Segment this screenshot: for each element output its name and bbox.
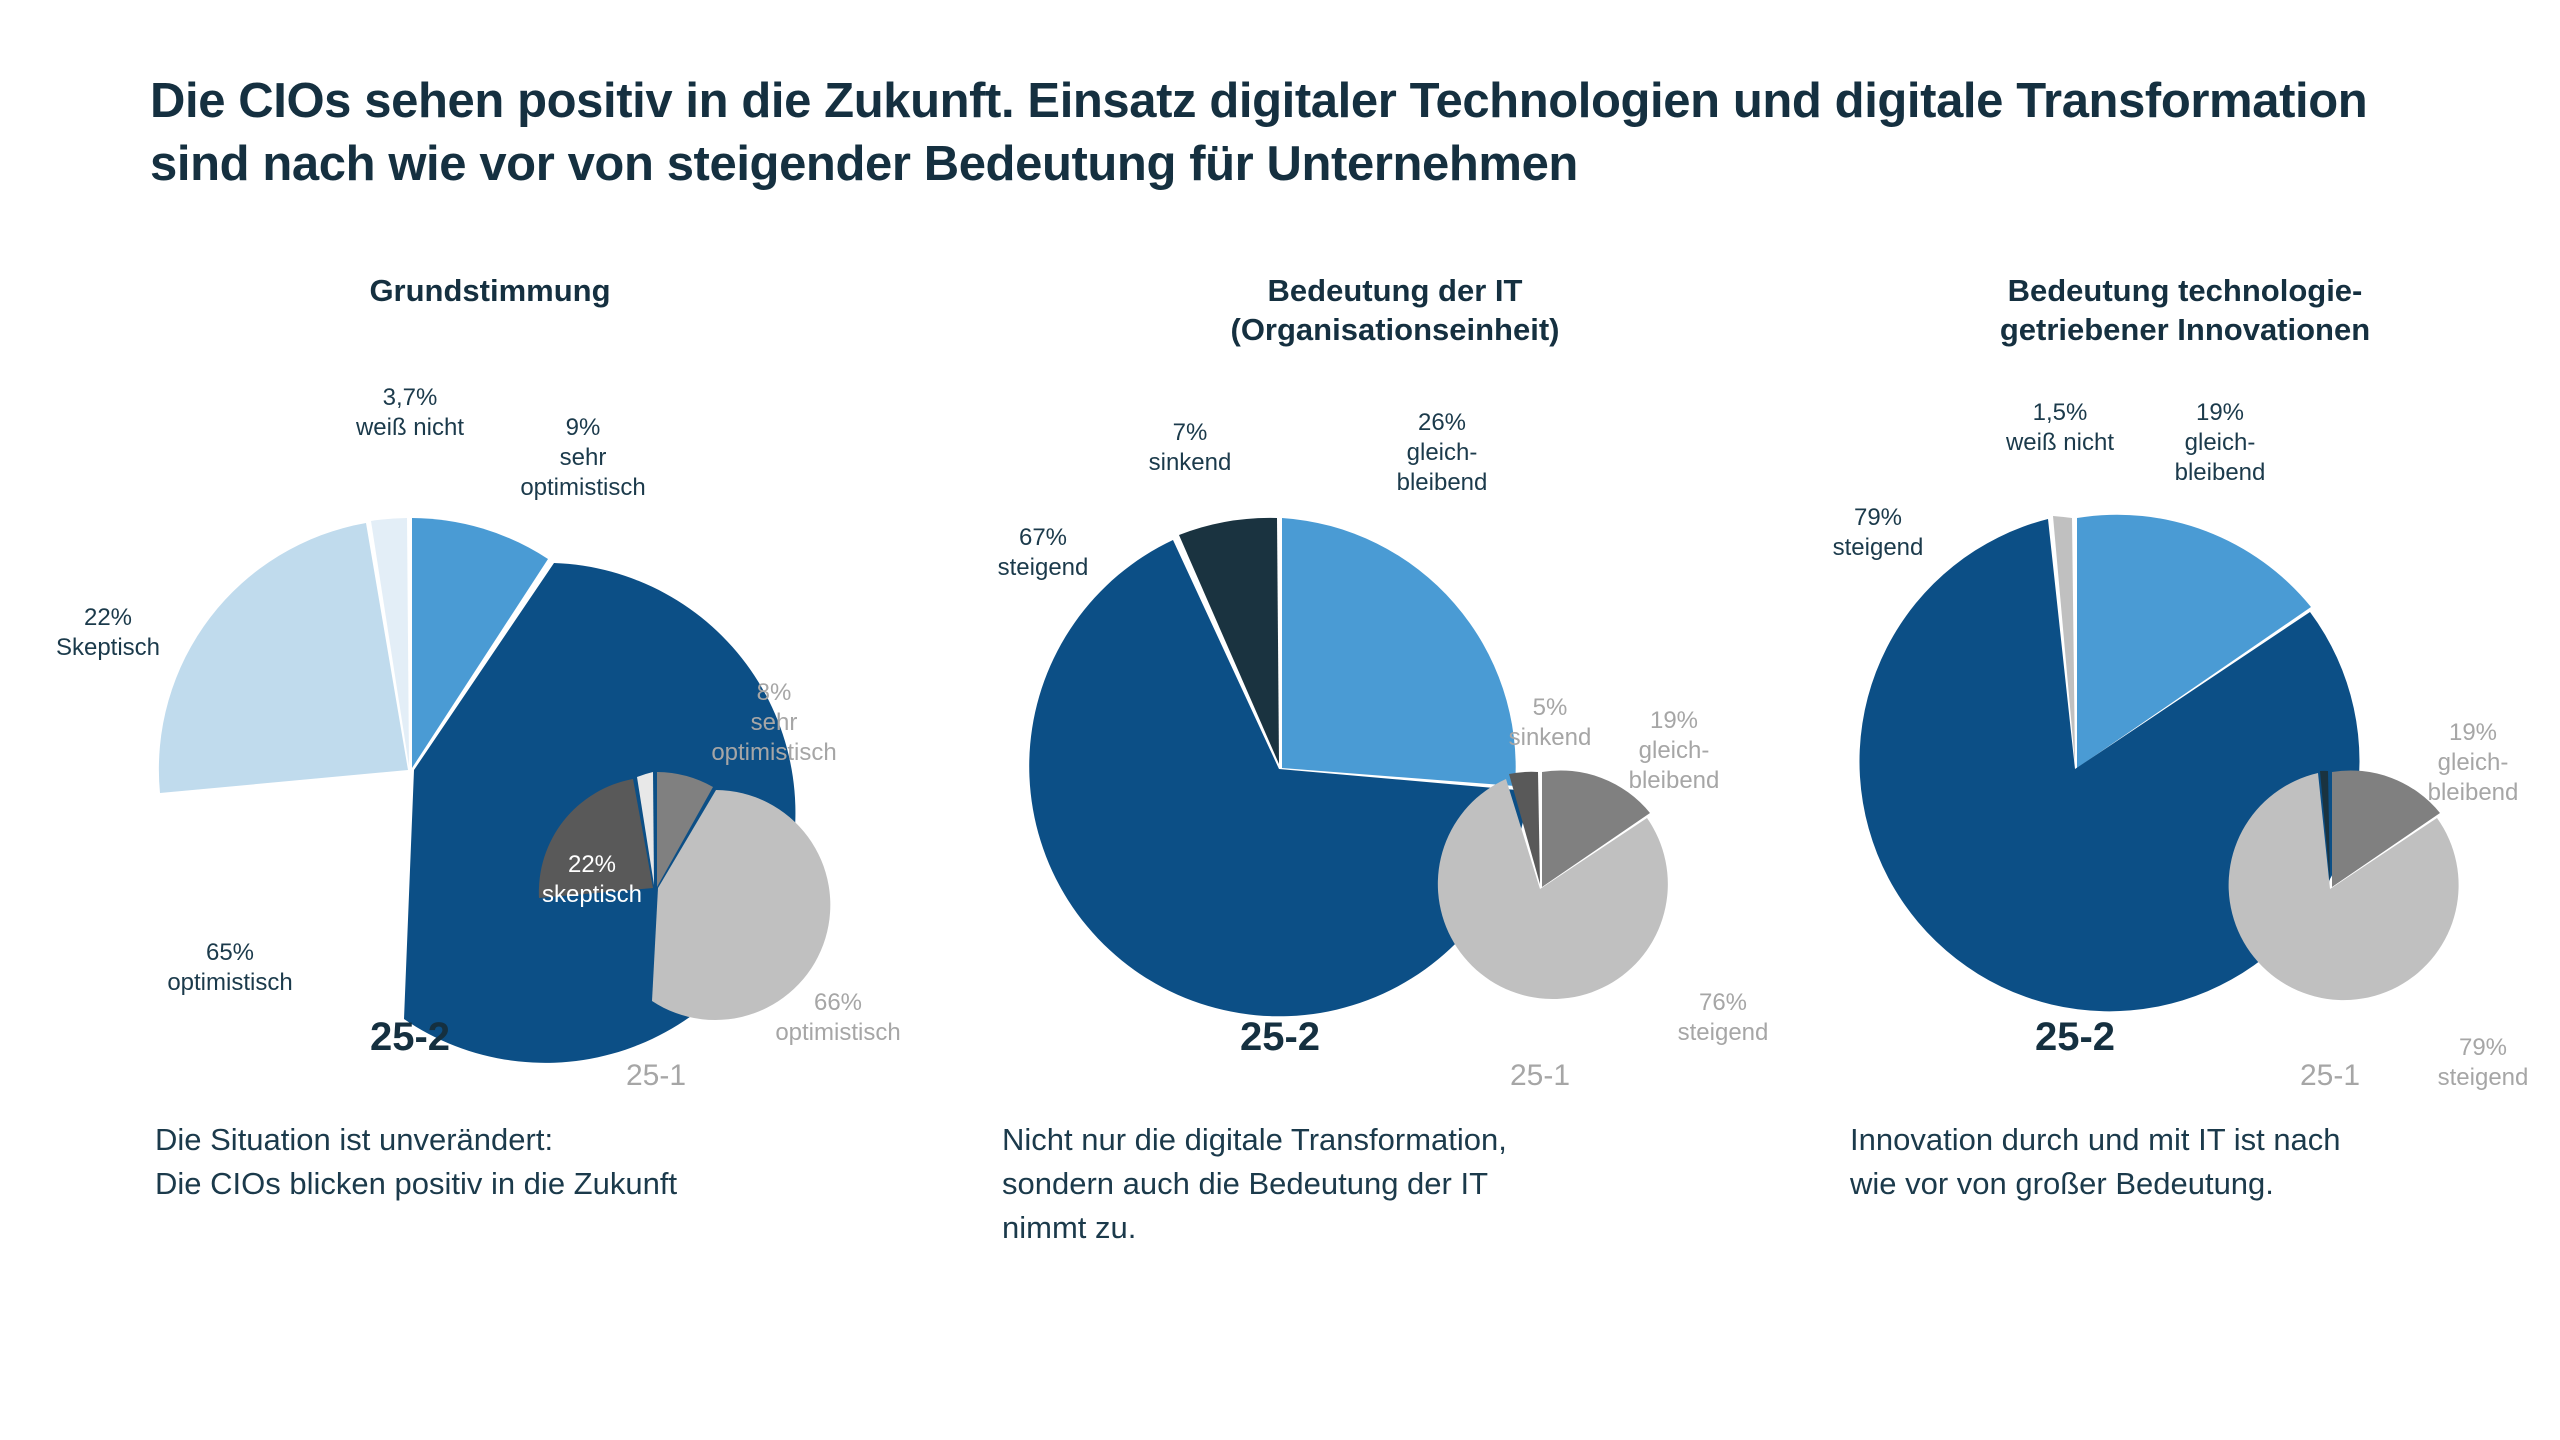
- chart-caption: Die Situation ist unverändert: Die CIOs …: [155, 1118, 915, 1206]
- slide-canvas: Die CIOs sehen positiv in die Zukunft. E…: [0, 0, 2560, 1440]
- label-prev-sinkend: 5%sinkend: [1509, 694, 1592, 751]
- pie-25-1-slices: [2229, 770, 2459, 1000]
- slice-gleichbleibend[interactable]: [1282, 518, 1516, 786]
- label-optimistisch: 65%optimistisch: [167, 939, 292, 996]
- label-weiss-nicht: 3,7%weiß nicht: [355, 384, 464, 441]
- pie-svg-1: 3,7%weiß nicht 9%sehroptimistisch 22%Ske…: [0, 0, 980, 1440]
- label-steigend: 79%steigend: [1833, 504, 1924, 561]
- label-prev-gleichbleibend: 19%gleich-bleibend: [1629, 707, 1720, 794]
- label-prev-steigend: 76%steigend: [1678, 989, 1769, 1046]
- period-label-25-2: 25-2: [2035, 1015, 2115, 1059]
- pie-chart-innovationen: 1,5%weiß nicht 19%gleich-bleibend 79%ste…: [1810, 0, 2560, 1440]
- chart-panel-grundstimmung: Grundstimmung: [0, 0, 980, 1440]
- period-label-25-1: 25-1: [2300, 1059, 2360, 1092]
- chart-panel-innovationen: Bedeutung technologie- getriebener Innov…: [1810, 0, 2560, 1440]
- label-sinkend: 7%sinkend: [1149, 419, 1232, 476]
- pie-svg-3: 1,5%weiß nicht 19%gleich-bleibend 79%ste…: [1810, 0, 2560, 1440]
- label-steigend: 67%steigend: [998, 524, 1089, 581]
- chart-caption: Nicht nur die digitale Transformation, s…: [1002, 1118, 1702, 1250]
- label-weiss-nicht: 1,5%weiß nicht: [2005, 399, 2114, 456]
- pie-chart-grundstimmung: 3,7%weiß nicht 9%sehroptimistisch 22%Ske…: [0, 0, 980, 1440]
- label-gleichbleibend: 26%gleich-bleibend: [1397, 409, 1488, 496]
- chart-caption: Innovation durch und mit IT ist nach wie…: [1850, 1118, 2530, 1206]
- label-sehr-optimistisch: 9%sehroptimistisch: [520, 414, 645, 501]
- slice-skeptisch[interactable]: [159, 523, 408, 793]
- period-label-25-1: 25-1: [626, 1059, 686, 1092]
- period-label-25-1: 25-1: [1510, 1059, 1570, 1092]
- pie-25-1-slices: [1438, 770, 1668, 999]
- pie-25-2-slices: [1029, 518, 1528, 1016]
- label-skeptisch: 22%Skeptisch: [56, 604, 160, 661]
- label-prev-gleichbleibend: 19%gleich-bleibend: [2428, 719, 2519, 806]
- label-prev-optimistisch: 66%optimistisch: [775, 989, 900, 1046]
- label-gleichbleibend: 19%gleich-bleibend: [2175, 399, 2266, 486]
- period-label-25-2: 25-2: [370, 1015, 450, 1059]
- label-prev-steigend: 79%steigend: [2438, 1034, 2529, 1091]
- chart-panel-bedeutung-it: Bedeutung der IT (Organisationseinheit): [980, 0, 1810, 1440]
- period-label-25-2: 25-2: [1240, 1015, 1320, 1059]
